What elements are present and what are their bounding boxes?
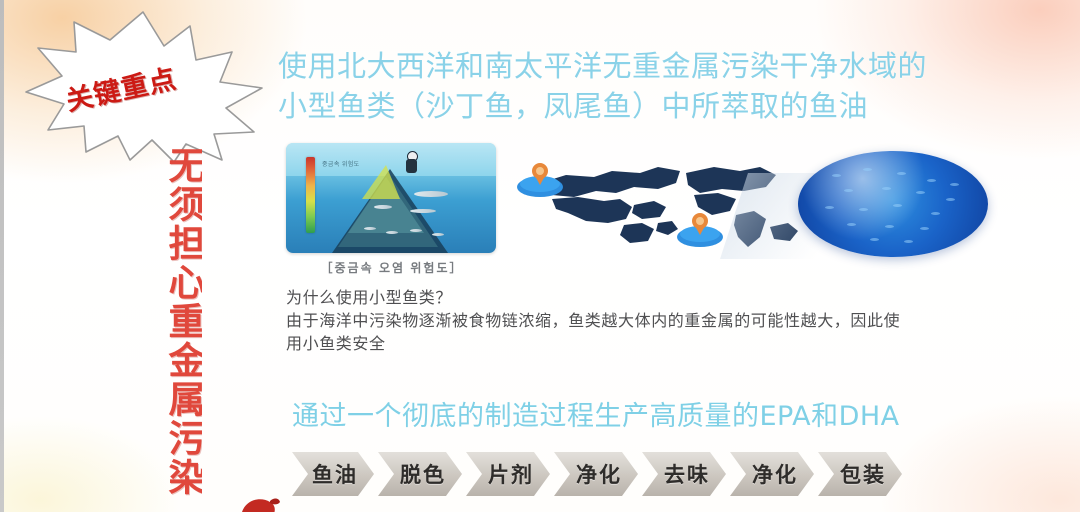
fish-small-1 bbox=[364, 227, 376, 230]
body-line-1: 为什么使用小型鱼类？ bbox=[286, 286, 1056, 309]
fish-small-3 bbox=[410, 229, 422, 232]
slide-canvas: 关键重点 无须担心重金属污染 使用北大西洋和南太平洋无重金属污染干净水域的 小型… bbox=[0, 0, 1080, 512]
media-row: 중금속 위험도 ［중금속 오염 위험도］ bbox=[286, 143, 1026, 283]
process-flow: 鱼油脱色片剂净化去味净化包装 bbox=[292, 450, 906, 498]
fish-large bbox=[414, 191, 448, 197]
process-step-3[interactable]: 片剂 bbox=[466, 452, 550, 496]
process-step-5[interactable]: 去味 bbox=[642, 452, 726, 496]
map-marker-south-pacific bbox=[677, 213, 723, 247]
process-step-2[interactable]: 脱色 bbox=[378, 452, 462, 496]
fish-small-2 bbox=[386, 231, 398, 234]
fisherman-figure bbox=[405, 151, 418, 173]
fish-medium-1 bbox=[410, 209, 436, 213]
body-line-3: 用小鱼类安全 bbox=[286, 332, 1056, 355]
vertical-banner-text: 无须担心重金属污染 bbox=[140, 130, 202, 512]
process-step-1[interactable]: 鱼油 bbox=[292, 452, 374, 496]
map-marker-north-atlantic bbox=[517, 163, 563, 197]
process-step-4[interactable]: 净化 bbox=[554, 452, 638, 496]
body-line-2: 由于海洋中污染物逐渐被食物链浓缩，鱼类越大体内的重金属的可能性越大，因此使 bbox=[286, 309, 1056, 332]
light-beam bbox=[362, 165, 400, 199]
headline: 使用北大西洋和南太平洋无重金属污染干净水域的 小型鱼类（沙丁鱼，凤尾鱼）中所萃取… bbox=[278, 46, 1068, 126]
fish-small-4 bbox=[432, 233, 444, 236]
red-fish-mark bbox=[236, 492, 282, 512]
food-chain-pyramid-image: 중금속 위험도 bbox=[286, 143, 496, 253]
fish-school-sphere bbox=[798, 151, 988, 257]
risk-scale-label: 중금속 위험도 bbox=[322, 159, 360, 168]
subline-text: 通过一个彻底的制造过程生产高质量的EPA和DHA bbox=[292, 394, 1052, 433]
process-step-7[interactable]: 包装 bbox=[818, 452, 902, 496]
headline-line-2: 小型鱼类（沙丁鱼，凤尾鱼）中所萃取的鱼油 bbox=[278, 86, 1068, 126]
fish-medium-2 bbox=[374, 205, 392, 209]
body-paragraph: 为什么使用小型鱼类？ 由于海洋中污染物逐渐被食物链浓缩，鱼类越大体内的重金属的可… bbox=[286, 286, 1056, 356]
red-fish-icon bbox=[236, 492, 282, 512]
process-step-6[interactable]: 净化 bbox=[730, 452, 814, 496]
headline-line-1: 使用北大西洋和南太平洋无重金属污染干净水域的 bbox=[278, 46, 1068, 86]
pyramid-caption: ［중금속 오염 위험도］ bbox=[292, 259, 492, 276]
risk-gradient-bar bbox=[306, 157, 315, 233]
